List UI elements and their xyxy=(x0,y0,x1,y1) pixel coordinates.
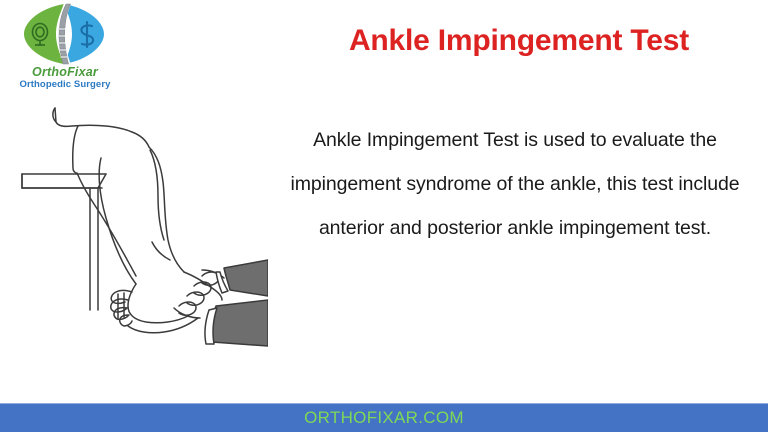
slide-canvas: OrthoFixar Orthopedic Surgery Ankle Impi… xyxy=(0,0,768,432)
footer-site-label: ORTHOFIXAR.COM xyxy=(0,404,768,432)
ankle-impingement-illustration xyxy=(6,100,268,360)
page-title: Ankle Impingement Test xyxy=(270,24,768,58)
logo-wordmark: OrthoFixar xyxy=(6,65,124,79)
footer-banner: ORTHOFIXAR.COM xyxy=(0,403,768,432)
logo-subwordmark: Orthopedic Surgery xyxy=(6,79,124,90)
orthofixar-logo-icon xyxy=(14,2,114,66)
brand-logo: OrthoFixar Orthopedic Surgery xyxy=(6,2,124,98)
description-paragraph: Ankle Impingement Test is used to evalua… xyxy=(272,118,758,250)
